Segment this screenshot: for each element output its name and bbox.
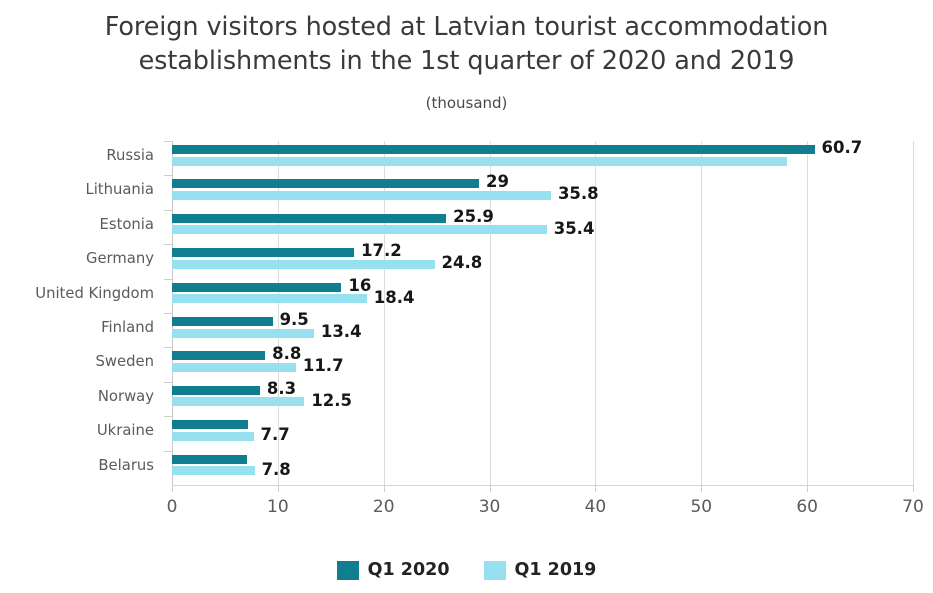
chart-row: Finland9.513.4	[172, 313, 913, 347]
bar-value-label: 7.8	[262, 460, 291, 479]
category-label: United Kingdom	[0, 285, 154, 302]
bar-q1-2020	[172, 455, 247, 464]
bar-value-label: 9.5	[280, 310, 309, 329]
chart-legend: Q1 2020Q1 2019	[0, 560, 933, 580]
gridline-70	[913, 141, 914, 485]
legend-item-q1-2020[interactable]: Q1 2020	[337, 560, 450, 580]
x-axis-line	[172, 485, 914, 486]
chart-row: Estonia25.935.4	[172, 210, 913, 244]
bar-value-label: 11.7	[303, 356, 344, 375]
chart-row: Sweden8.811.7	[172, 347, 913, 381]
bar-value-label: 60.7	[822, 138, 863, 157]
bar-value-label: 8.8	[272, 344, 301, 363]
bar-value-label: 12.5	[311, 391, 352, 410]
category-label: Sweden	[0, 353, 154, 370]
x-axis-tick-label: 30	[479, 497, 501, 517]
chart-subtitle: (thousand)	[0, 94, 933, 112]
x-axis-tick-70	[913, 485, 914, 492]
bar-q1-2019	[172, 157, 787, 166]
chart-title-line-1: Foreign visitors hosted at Latvian touri…	[40, 10, 893, 44]
plot-area: Russia60.7Lithuania2935.8Estonia25.935.4…	[172, 141, 913, 485]
category-label: Belarus	[0, 457, 154, 474]
bar-q1-2020	[172, 283, 341, 292]
category-label: Russia	[0, 147, 154, 164]
bar-q1-2019	[172, 225, 547, 234]
bar-q1-2020	[172, 351, 265, 360]
bar-q1-2019	[172, 329, 314, 338]
bar-q1-2020	[172, 420, 248, 429]
y-axis-tick	[164, 141, 172, 142]
bar-q1-2019	[172, 191, 551, 200]
chart-row: United Kingdom1618.4	[172, 279, 913, 313]
bar-q1-2020	[172, 386, 260, 395]
y-axis-tick	[164, 347, 172, 348]
category-label: Estonia	[0, 216, 154, 233]
bar-value-label: 17.2	[361, 241, 402, 260]
x-axis-tick-60	[807, 485, 808, 492]
bar-value-label: 24.8	[442, 253, 483, 272]
legend-swatch-icon	[484, 561, 506, 580]
chart-title: Foreign visitors hosted at Latvian touri…	[0, 10, 933, 78]
legend-label: Q1 2020	[368, 560, 450, 580]
y-axis-tick	[164, 416, 172, 417]
bar-q1-2020	[172, 145, 815, 154]
y-axis-tick	[164, 175, 172, 176]
chart-row: Russia60.7	[172, 141, 913, 175]
bar-q1-2019	[172, 294, 367, 303]
x-axis-tick-label: 0	[167, 497, 178, 517]
x-axis-tick-30	[490, 485, 491, 492]
x-axis-tick-0	[172, 485, 173, 492]
bar-q1-2019	[172, 397, 304, 406]
bar-q1-2020	[172, 248, 354, 257]
chart-container: Foreign visitors hosted at Latvian touri…	[0, 0, 933, 593]
chart-row: Ukraine7.7	[172, 416, 913, 450]
legend-swatch-icon	[337, 561, 359, 580]
x-axis-tick-label: 50	[690, 497, 712, 517]
bar-value-label: 18.4	[374, 288, 415, 307]
bar-q1-2019	[172, 363, 296, 372]
bar-q1-2020	[172, 214, 446, 223]
bar-value-label: 35.8	[558, 184, 599, 203]
x-axis-tick-10	[278, 485, 279, 492]
y-axis-tick	[164, 451, 172, 452]
category-label: Germany	[0, 250, 154, 267]
x-axis-tick-label: 70	[902, 497, 924, 517]
bar-value-label: 25.9	[453, 207, 494, 226]
bar-q1-2020	[172, 317, 273, 326]
chart-row: Lithuania2935.8	[172, 175, 913, 209]
x-axis-tick-50	[701, 485, 702, 492]
y-axis-tick	[164, 279, 172, 280]
x-axis-tick-label: 20	[373, 497, 395, 517]
legend-item-q1-2019[interactable]: Q1 2019	[484, 560, 597, 580]
bar-value-label: 35.4	[554, 219, 595, 238]
chart-row: Norway8.312.5	[172, 382, 913, 416]
bar-q1-2019	[172, 432, 254, 441]
chart-row: Belarus7.8	[172, 451, 913, 485]
category-label: Lithuania	[0, 181, 154, 198]
x-axis-tick-40	[595, 485, 596, 492]
y-axis-tick	[164, 244, 172, 245]
x-axis-tick-label: 40	[585, 497, 607, 517]
bar-q1-2019	[172, 466, 255, 475]
y-axis-tick	[164, 210, 172, 211]
bar-value-label: 8.3	[267, 379, 296, 398]
legend-label: Q1 2019	[515, 560, 597, 580]
category-label: Finland	[0, 319, 154, 336]
y-axis-tick	[164, 382, 172, 383]
bar-value-label: 13.4	[321, 322, 362, 341]
bar-value-label: 7.7	[261, 425, 290, 444]
x-axis-tick-20	[384, 485, 385, 492]
category-label: Ukraine	[0, 422, 154, 439]
x-axis-tick-label: 10	[267, 497, 289, 517]
category-label: Norway	[0, 388, 154, 405]
bar-q1-2020	[172, 179, 479, 188]
title-block: Foreign visitors hosted at Latvian touri…	[0, 10, 933, 78]
y-axis-tick	[164, 313, 172, 314]
chart-title-line-2: establishments in the 1st quarter of 202…	[40, 44, 893, 78]
bar-value-label: 16	[348, 276, 371, 295]
bar-value-label: 29	[486, 172, 509, 191]
bar-q1-2019	[172, 260, 435, 269]
chart-row: Germany17.224.8	[172, 244, 913, 278]
x-axis-tick-label: 60	[796, 497, 818, 517]
